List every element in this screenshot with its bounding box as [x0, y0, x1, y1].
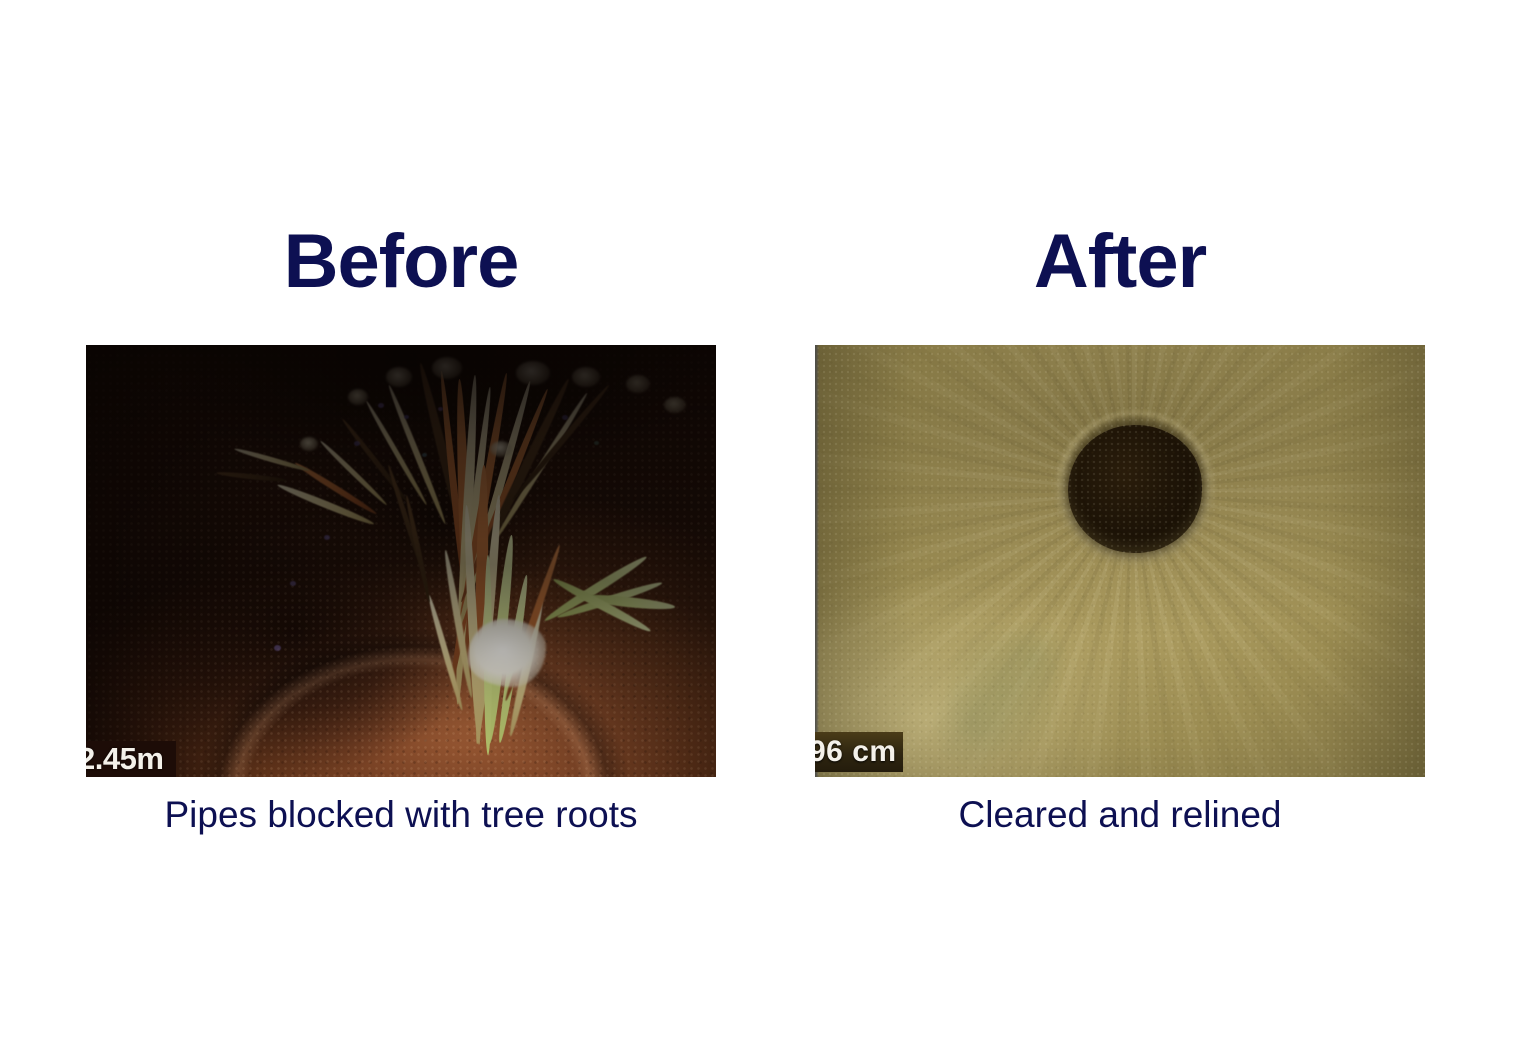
- photo-vignette: [86, 345, 716, 777]
- before-caption: Pipes blocked with tree roots: [86, 795, 716, 836]
- comparison-slide: Before 2.45m Pipes blocked with tree roo…: [0, 0, 1536, 1064]
- after-depth-badge: 96 cm: [815, 732, 903, 772]
- before-photo: 2.45m: [86, 345, 716, 777]
- after-caption: Cleared and relined: [815, 795, 1425, 836]
- before-panel: 2.45m: [86, 345, 716, 777]
- after-depth-value: 96 cm: [815, 735, 897, 769]
- before-depth-badge: 2.45m: [86, 741, 176, 777]
- after-heading: After: [815, 224, 1425, 300]
- after-photo: 96 cm: [815, 345, 1425, 777]
- photo-left-edge: [815, 345, 1425, 777]
- before-heading: Before: [86, 224, 716, 300]
- after-panel: 96 cm: [815, 345, 1425, 777]
- before-depth-value: 2.45m: [86, 741, 163, 777]
